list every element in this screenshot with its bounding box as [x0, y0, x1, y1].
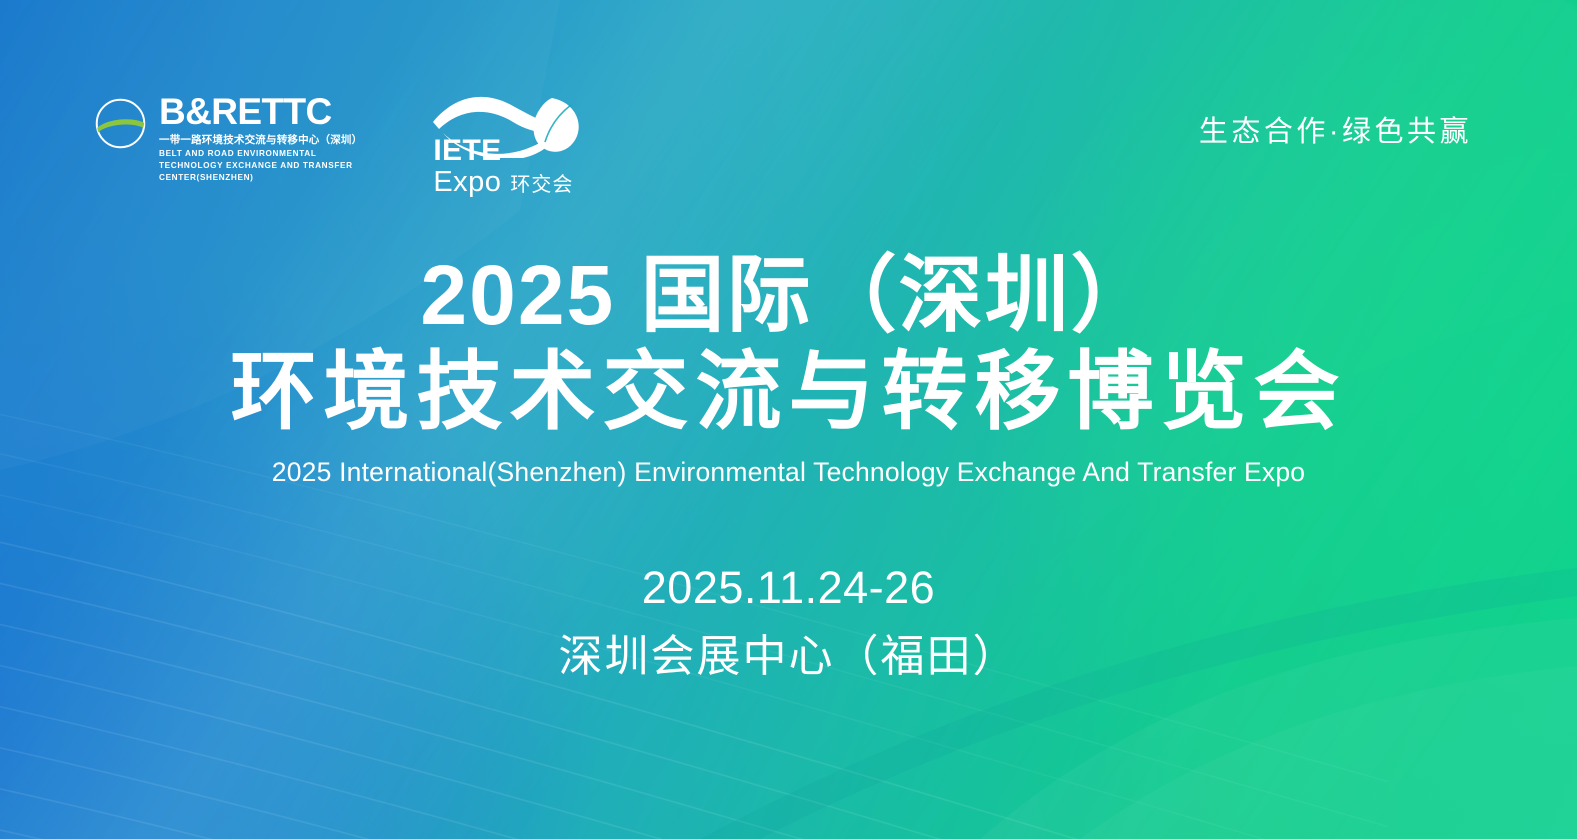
brettc-english-line-3: CENTER(SHENZHEN) — [159, 172, 362, 184]
iete-chinese-short: 环交会 — [510, 175, 573, 196]
brettc-text-block: B&RETTC 一带一路环境技术交流与转移中心（深圳） BELT AND ROA… — [159, 94, 362, 183]
iete-expo-logo: IETE Expo 环交会 — [431, 92, 589, 196]
brettc-wordmark: B&RETTC — [159, 94, 362, 130]
banner-main-content: 2025 国际（深圳） 环境技术交流与转移博览会 2025 Internatio… — [0, 252, 1577, 684]
banner-slogan: 生态合作·绿色共赢 — [1199, 108, 1472, 150]
title-line-1: 2025 国际（深圳） — [420, 252, 1156, 339]
brettc-logo: B&RETTC 一带一路环境技术交流与转移中心（深圳） BELT AND ROA… — [92, 92, 362, 183]
iete-acronym: IETE — [433, 136, 573, 166]
subtitle-english: 2025 International(Shenzhen) Environment… — [272, 457, 1305, 488]
event-banner: B&RETTC 一带一路环境技术交流与转移中心（深圳） BELT AND ROA… — [0, 0, 1577, 839]
iete-expo-word: Expo — [433, 167, 501, 197]
event-venue: 深圳会展中心（福田） — [559, 620, 1019, 684]
title-line-2: 环境技术交流与转移博览会 — [231, 347, 1347, 438]
logo-group: B&RETTC 一带一路环境技术交流与转移中心（深圳） BELT AND ROA… — [92, 92, 589, 196]
globe-circle-mark-icon — [92, 95, 149, 152]
brettc-english-line-1: BELT AND ROAD ENVIRONMENTAL — [159, 148, 362, 160]
brettc-chinese-name: 一带一路环境技术交流与转移中心（深圳） — [159, 133, 362, 147]
banner-header: B&RETTC 一带一路环境技术交流与转移中心（深圳） BELT AND ROA… — [0, 0, 1577, 200]
brettc-english-name: BELT AND ROAD ENVIRONMENTAL TECHNOLOGY E… — [159, 148, 362, 183]
brettc-english-line-2: TECHNOLOGY EXCHANGE AND TRANSFER — [159, 160, 362, 172]
iete-expo-row: Expo 环交会 — [433, 167, 573, 197]
event-date: 2025.11.24-26 — [642, 562, 935, 614]
logo-divider — [396, 96, 397, 196]
iete-text-block: IETE Expo 环交会 — [433, 136, 573, 197]
